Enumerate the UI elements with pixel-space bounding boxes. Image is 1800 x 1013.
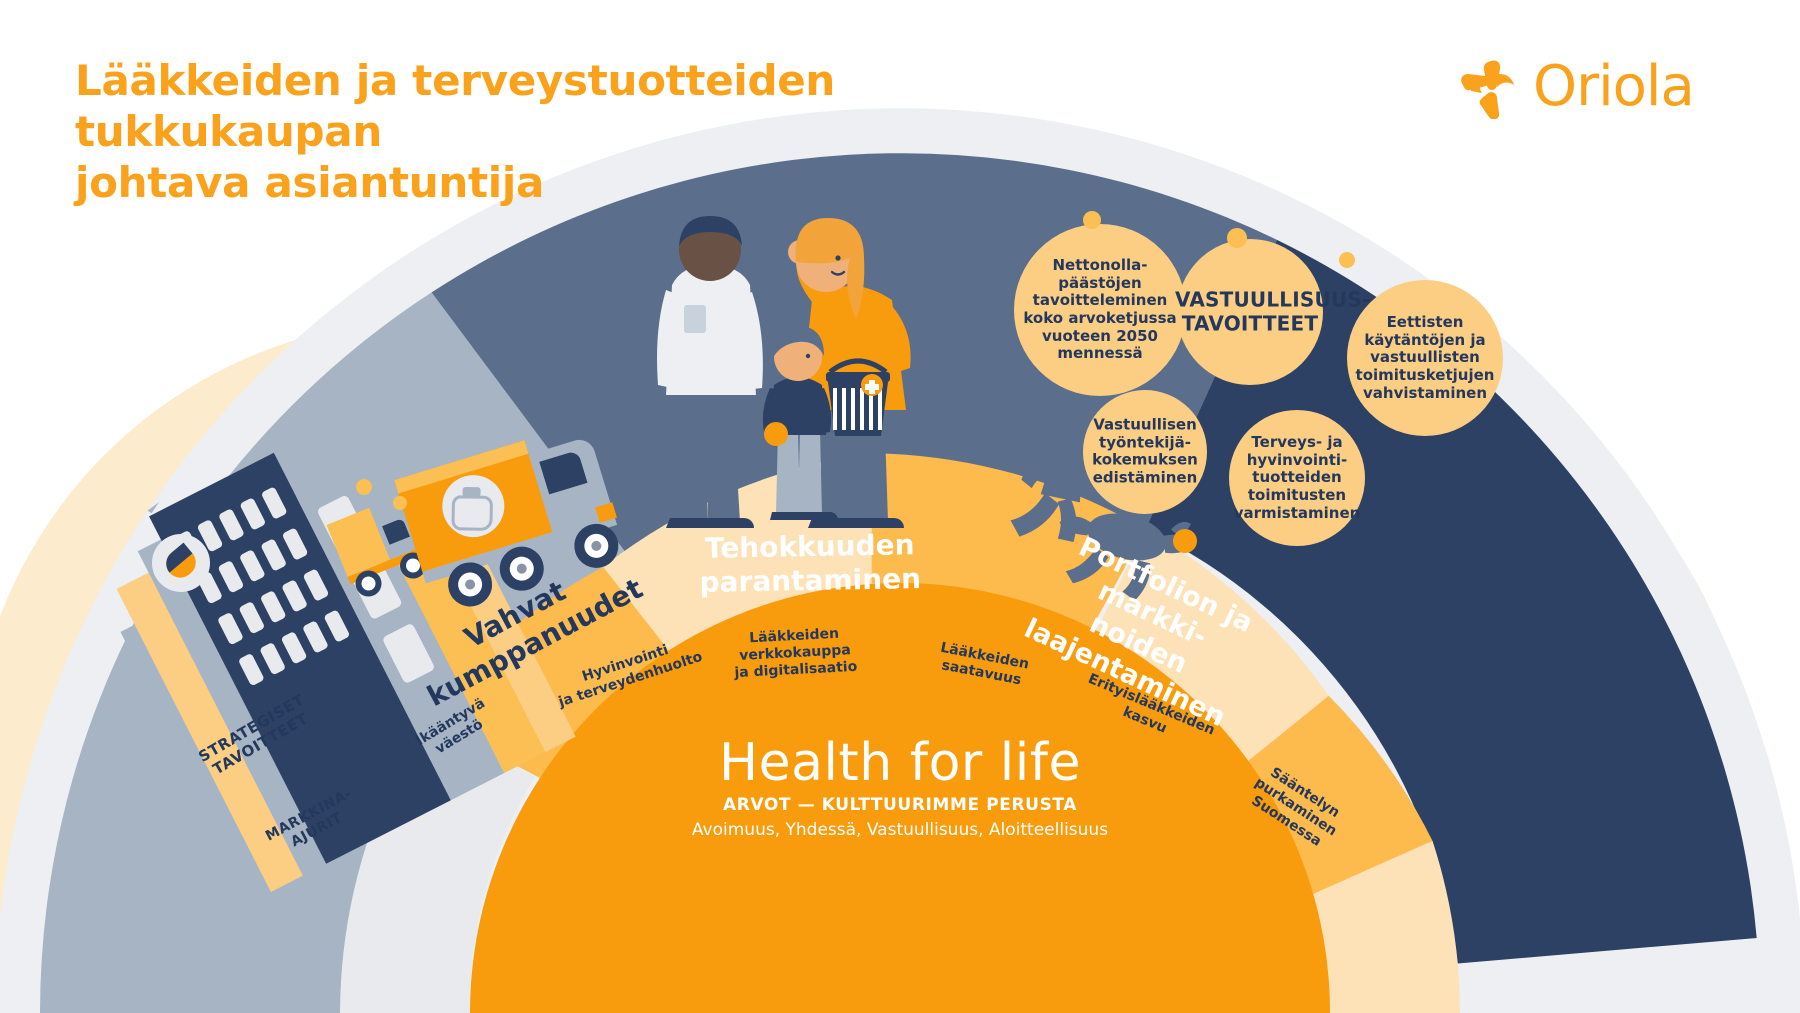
infographic-canvas: Lääkkeiden ja terveystuotteiden tukkukau… bbox=[0, 0, 1800, 1013]
bubble-health-products-shape[interactable] bbox=[1229, 410, 1365, 546]
values-list: Avoimuus, Yhdessä, Vastuullisuus, Aloitt… bbox=[0, 820, 1800, 840]
bubble-ethical-practices-shape[interactable] bbox=[1347, 280, 1503, 436]
bubble-net-zero-shape[interactable] bbox=[1014, 224, 1186, 396]
bubble-responsibility-goals-shape[interactable] bbox=[1177, 239, 1323, 385]
sustainability-bubble-shapes bbox=[0, 0, 1800, 1013]
driver-label-pharma-ecommerce[interactable]: Lääkkeiden verkkokauppaja digitalisaatio bbox=[699, 623, 891, 683]
bubble-employee-experience-shape[interactable] bbox=[1083, 390, 1207, 514]
pillar-label-efficiency-improvement[interactable]: Tehokkuudenparantaminen bbox=[684, 528, 935, 600]
values-heading: ARVOT — KULTTUURIMME PERUSTA bbox=[0, 795, 1800, 815]
core-tagline: Health for life bbox=[0, 733, 1800, 793]
